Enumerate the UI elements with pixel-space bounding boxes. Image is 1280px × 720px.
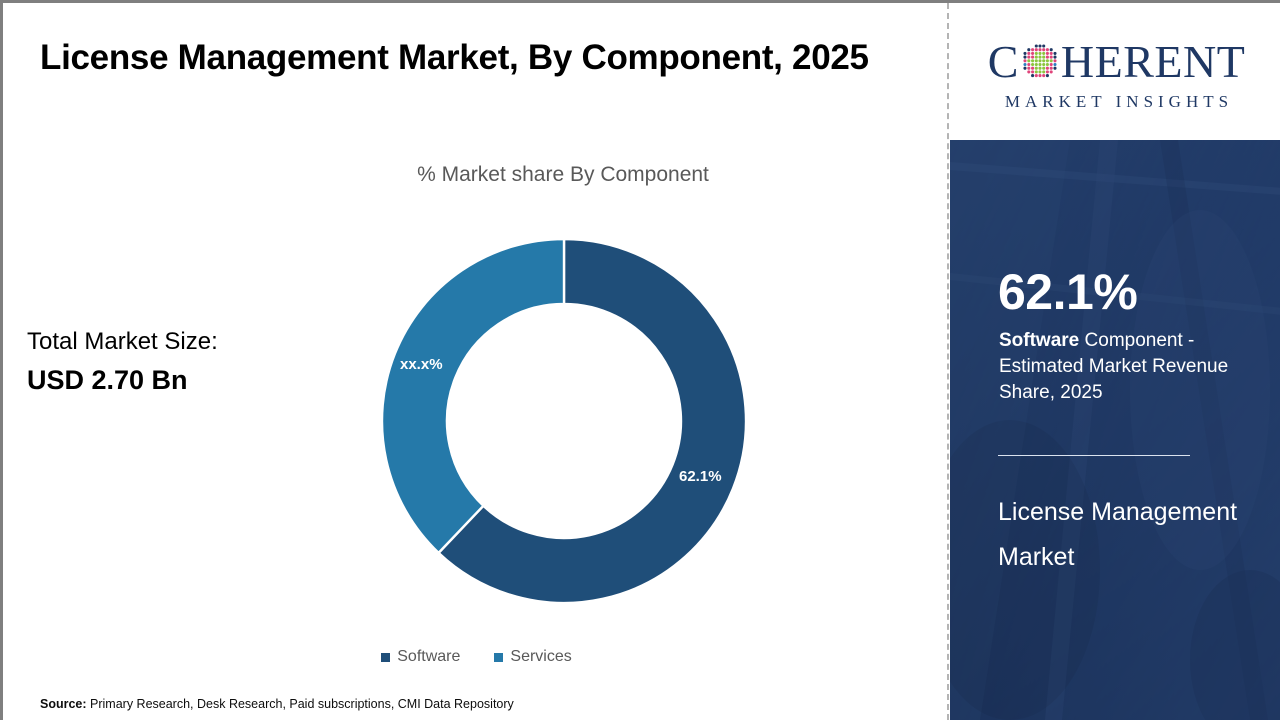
logo-wordmark: C HERENT: [988, 36, 1246, 88]
slice-label-services: xx.x%: [400, 356, 443, 373]
vertical-dashed-divider: [947, 3, 949, 720]
total-market-size-value: USD 2.70 Bn: [27, 365, 188, 396]
source-label: Source:: [40, 697, 87, 711]
side-panel-content: 62.1% Software Component - Estimated Mar…: [950, 140, 1280, 720]
infographic-page: License Management Market, By Component,…: [0, 0, 1280, 720]
panel-divider-line: [998, 455, 1190, 456]
legend-swatch-software: [381, 653, 390, 662]
source-text: Primary Research, Desk Research, Paid su…: [87, 697, 514, 711]
legend-item-software: Software: [381, 648, 460, 666]
chart-pane: License Management Market, By Component,…: [3, 3, 950, 720]
legend-label-services: Services: [510, 648, 571, 666]
headline-statistic: 62.1%: [998, 267, 1137, 317]
chart-legend: Software Services: [3, 648, 950, 666]
donut-slice-services: [382, 239, 564, 553]
dotted-globe-icon: [1020, 42, 1060, 82]
source-note: Source: Primary Research, Desk Research,…: [40, 697, 514, 711]
donut-chart: [373, 230, 755, 612]
donut-slices: [382, 239, 746, 603]
slice-label-software: 62.1%: [679, 468, 722, 485]
brand-logo: C HERENT MARKET INSIGHTS: [950, 3, 1280, 140]
logo-text-herent: HERENT: [1061, 39, 1245, 85]
logo-letter-c: C: [988, 39, 1019, 85]
panel-market-name: License Management Market: [998, 490, 1238, 580]
page-title: License Management Market, By Component,…: [40, 33, 870, 82]
legend-item-services: Services: [494, 648, 571, 666]
chart-subtitle: % Market share By Component: [203, 163, 923, 187]
statistic-description: Software Component - Estimated Market Re…: [999, 328, 1249, 406]
statistic-description-strong: Software: [999, 330, 1079, 351]
legend-swatch-services: [494, 653, 503, 662]
donut-chart-svg: [373, 230, 755, 612]
side-panel-body: 62.1% Software Component - Estimated Mar…: [950, 140, 1280, 720]
logo-subtitle: MARKET INSIGHTS: [1000, 92, 1233, 112]
legend-label-software: Software: [397, 648, 460, 666]
side-panel: C HERENT MARKET INSIGHTS: [950, 3, 1280, 720]
total-market-size-label: Total Market Size:: [27, 328, 218, 356]
